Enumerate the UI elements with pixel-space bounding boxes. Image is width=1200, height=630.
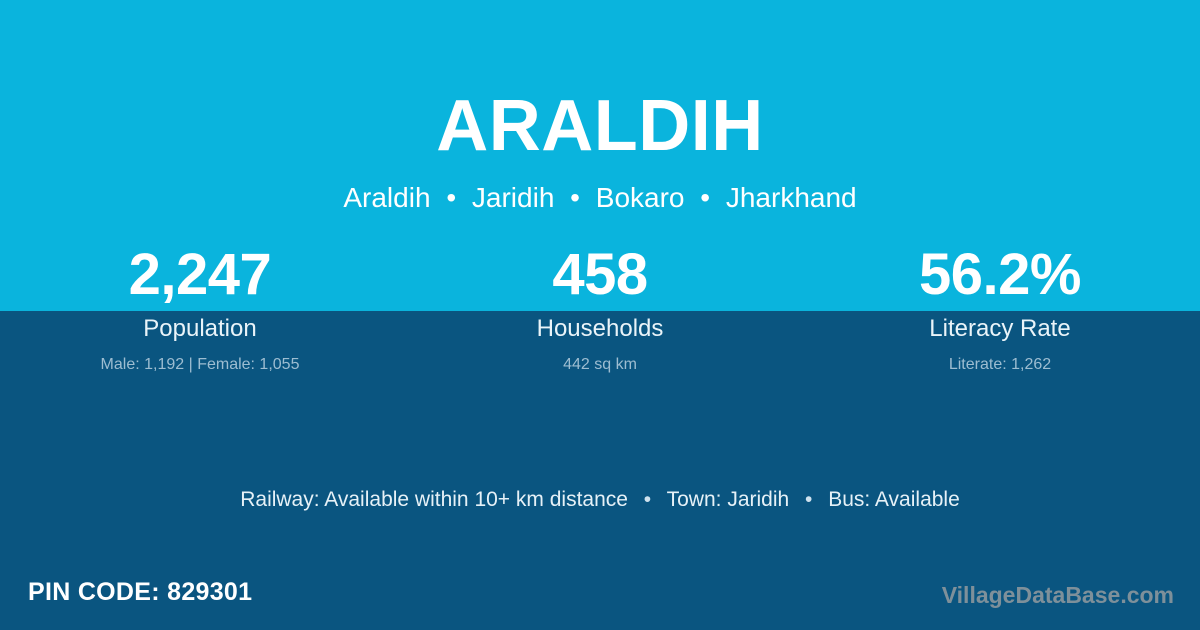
village-info-card: ARALDIH Araldih • Jaridih • Bokaro • Jha…	[0, 0, 1200, 630]
breadcrumb-item-block: Jaridih	[472, 182, 554, 213]
pin-code: PIN CODE: 829301	[28, 576, 252, 608]
facility-railway: Railway: Available within 10+ km distanc…	[240, 488, 628, 511]
breadcrumb-item-village: Araldih	[343, 182, 430, 213]
facilities-line: Railway: Available within 10+ km distanc…	[0, 485, 1200, 515]
site-branding: VillageDataBase.com	[942, 580, 1174, 610]
facility-town: Town: Jaridih	[667, 488, 790, 511]
stat-literacy-rate-detail: Literate: 1,262	[800, 355, 1200, 375]
page-title: ARALDIH	[0, 0, 1200, 169]
stat-households-detail: 442 sq km	[400, 355, 800, 375]
stat-literacy-rate-value: 56.2%	[800, 243, 1200, 307]
card-header: ARALDIH Araldih • Jaridih • Bokaro • Jha…	[0, 0, 1200, 215]
stats-row: 2,247 Population Male: 1,192 | Female: 1…	[0, 243, 1200, 375]
facility-separator-icon: •	[634, 485, 661, 515]
stat-population-detail: Male: 1,192 | Female: 1,055	[0, 355, 400, 375]
breadcrumb-separator-icon: •	[438, 181, 464, 215]
brand-tld: .com	[1120, 582, 1174, 608]
breadcrumb-item-state: Jharkhand	[726, 182, 857, 213]
stat-population: 2,247 Population Male: 1,192 | Female: 1…	[0, 243, 400, 375]
stat-households: 458 Households 442 sq km	[400, 243, 800, 375]
stat-households-label: Households	[400, 315, 800, 343]
breadcrumb-separator-icon: •	[562, 181, 588, 215]
stat-population-value: 2,247	[0, 243, 400, 307]
facility-separator-icon: •	[795, 485, 822, 515]
breadcrumb: Araldih • Jaridih • Bokaro • Jharkhand	[0, 169, 1200, 215]
stat-literacy-rate: 56.2% Literacy Rate Literate: 1,262	[800, 243, 1200, 375]
brand-name: VillageDataBase	[942, 582, 1121, 608]
breadcrumb-item-district: Bokaro	[596, 182, 685, 213]
stat-population-label: Population	[0, 315, 400, 343]
breadcrumb-separator-icon: •	[692, 181, 718, 215]
stat-literacy-rate-label: Literacy Rate	[800, 315, 1200, 343]
stat-households-value: 458	[400, 243, 800, 307]
facility-bus: Bus: Available	[828, 488, 960, 511]
card-footer: PIN CODE: 829301 VillageDataBase.com	[0, 572, 1200, 630]
